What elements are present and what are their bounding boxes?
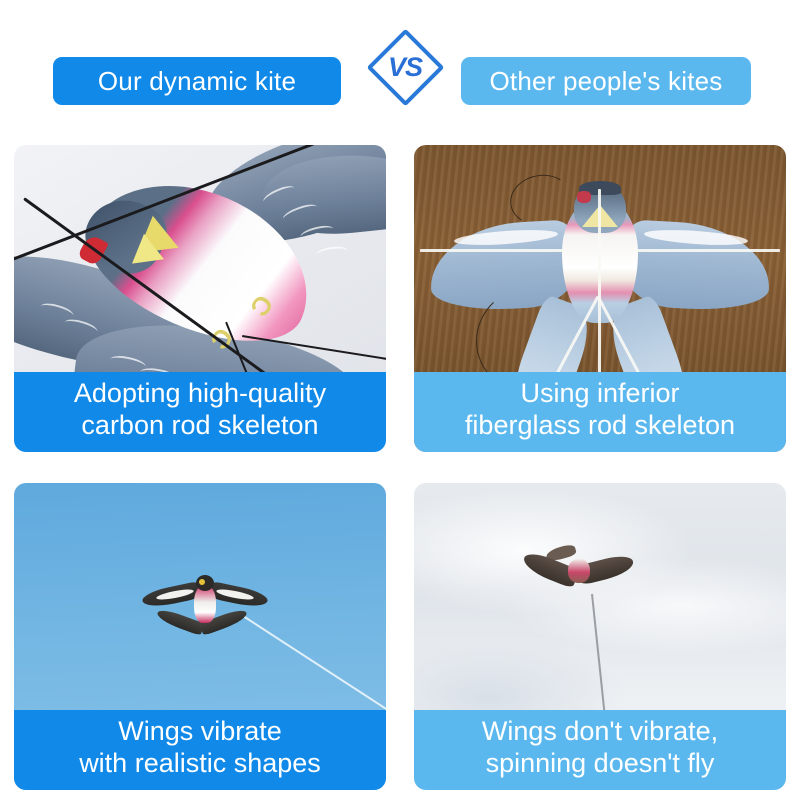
flying-kite (526, 545, 636, 605)
our-kite-label: Our dynamic kite (53, 57, 341, 105)
vs-label: VS (366, 28, 444, 106)
comparison-header: Our dynamic kite VS Other people's kites (0, 0, 800, 140)
kite-body (568, 559, 590, 583)
kite-eye (199, 579, 205, 585)
card-caption: Using inferior fiberglass rod skeleton (414, 372, 786, 452)
vs-badge: VS (366, 28, 444, 106)
card-ours-wings-vibrate: Wings vibrate with realistic shapes (14, 483, 386, 790)
card-theirs-wings-dont-vibrate: Wings don't vibrate, spinning doesn't fl… (414, 483, 786, 790)
card-caption: Wings vibrate with realistic shapes (14, 710, 386, 790)
caption-line-2: fiberglass rod skeleton (414, 410, 786, 442)
other-kites-label: Other people's kites (461, 57, 751, 105)
caption-line-2: carbon rod skeleton (14, 410, 386, 442)
caption-line-1: Using inferior (414, 378, 786, 410)
card-caption: Wings don't vibrate, spinning doesn't fl… (414, 710, 786, 790)
kite-beak (577, 191, 591, 203)
caption-line-1: Wings don't vibrate, (414, 716, 786, 748)
caption-line-2: spinning doesn't fly (414, 748, 786, 780)
caption-line-2: with realistic shapes (14, 748, 386, 780)
caption-line-1: Wings vibrate (14, 716, 386, 748)
card-ours-carbon-rod: C C Adopting high-quality carbon rod ske… (14, 145, 386, 452)
flying-kite (142, 571, 268, 643)
card-theirs-fiberglass-rod: Using inferior fiberglass rod skeleton (414, 145, 786, 452)
comparison-grid: C C Adopting high-quality carbon rod ske… (0, 145, 800, 795)
card-caption: Adopting high-quality carbon rod skeleto… (14, 372, 386, 452)
caption-line-1: Adopting high-quality (14, 378, 386, 410)
